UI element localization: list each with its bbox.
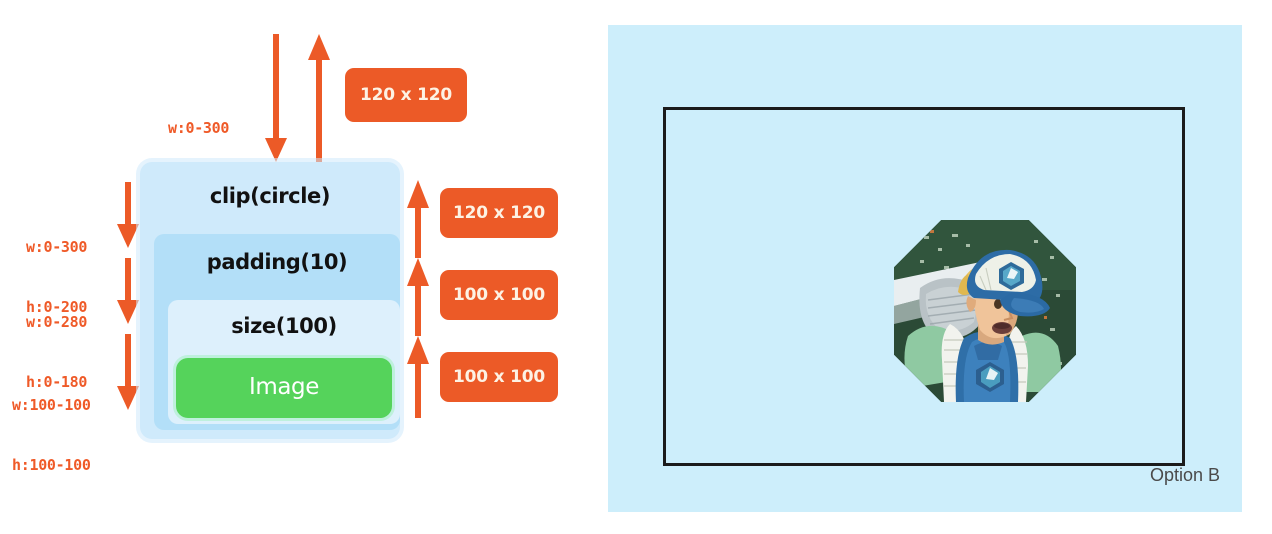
size-badge-padding: 100 x 100: [440, 270, 558, 320]
constraint-label-size: w:100-100 h:100-100: [12, 355, 91, 515]
widget-box-padding-label: padding(10): [154, 250, 400, 274]
size-badge-clip: 120 x 120: [440, 188, 558, 238]
widget-box-padding: padding(10) size(100) Image: [154, 234, 400, 430]
widget-box-image-label: Image: [176, 374, 392, 400]
option-caption: Option B: [1150, 465, 1220, 486]
arrow-up-padding: [404, 258, 432, 336]
widget-box-clip-label: clip(circle): [140, 184, 400, 208]
arrow-up-clip: [404, 180, 432, 258]
preview-panel: Option B: [608, 25, 1242, 512]
arrow-down-clip: [114, 182, 142, 250]
arrow-down-top: [262, 34, 290, 164]
avatar: [894, 220, 1076, 402]
screenshot-root: w:0-300 h:0-200 120 x 120 w:0-300 h:0-20…: [0, 0, 1272, 534]
avatar-artwork: [894, 220, 1076, 402]
arrow-up-size: [404, 336, 432, 418]
size-badge-top: 120 x 120: [345, 68, 467, 122]
widget-box-size-label: size(100): [168, 314, 400, 338]
preview-frame: [663, 107, 1185, 466]
widget-box-clip: clip(circle) padding(10) size(100) Image: [140, 162, 400, 439]
arrow-down-padding: [114, 258, 142, 326]
arrow-up-top: [305, 34, 333, 164]
widget-box-image: Image: [176, 358, 392, 418]
constraints-diagram: w:0-300 h:0-200 120 x 120 w:0-300 h:0-20…: [0, 0, 600, 534]
size-badge-size: 100 x 100: [440, 352, 558, 402]
widget-box-size: size(100) Image: [168, 300, 400, 424]
arrow-down-size: [114, 334, 142, 412]
